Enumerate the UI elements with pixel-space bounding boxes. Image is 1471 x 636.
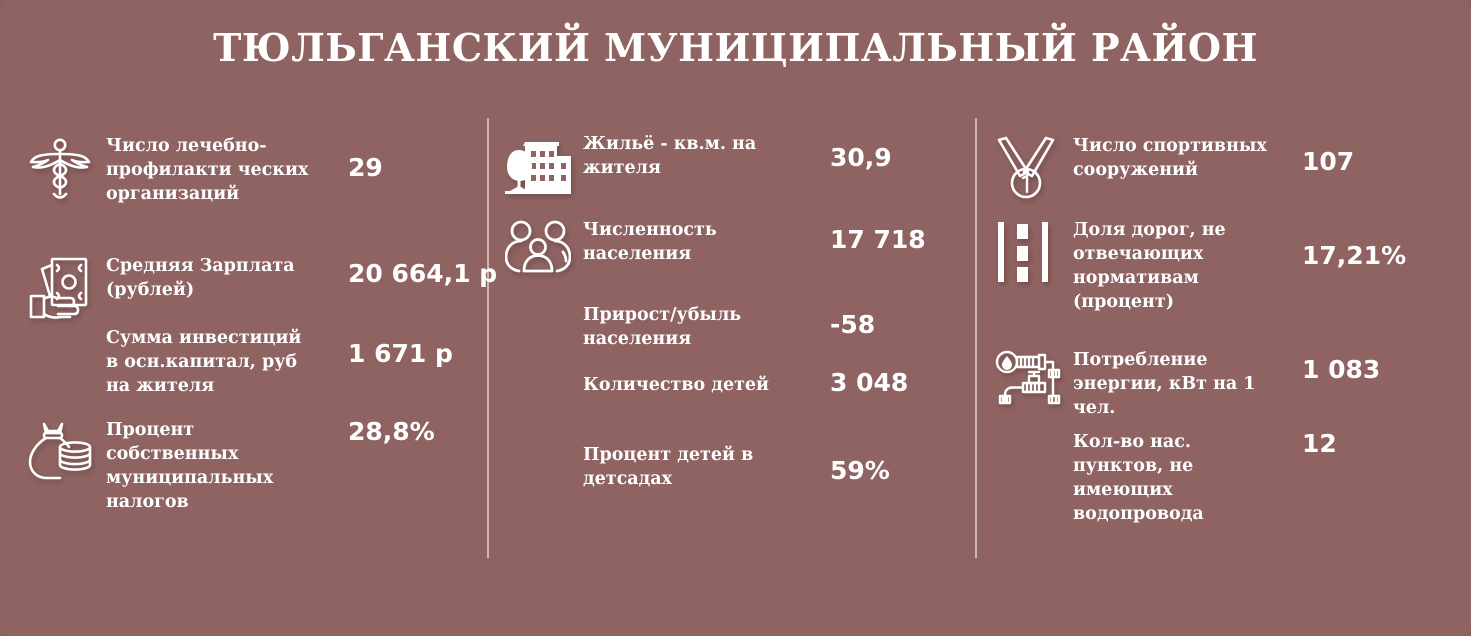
stat-value: 3 048 (830, 369, 908, 397)
column-divider-2 (975, 118, 977, 558)
stat-value: -58 (830, 311, 875, 339)
stat-label: Потребление энергии, кВт на 1 чел. (1073, 348, 1278, 420)
stat-label: Прирост/убыль населения (583, 303, 788, 351)
stat-value: 28,8% (348, 418, 435, 446)
stat-row: Средняя Зарплата (рублей) 20 664,1 р (28, 254, 480, 324)
infographic-poster: ТЮЛЬГАНСКИЙ МУНИЦИПАЛЬНЫЙ РАЙОН Число ле… (0, 0, 1471, 636)
stat-value: 107 (1302, 148, 1354, 176)
stat-value: 20 664,1 р (348, 260, 497, 288)
medal-icon (995, 134, 1073, 204)
column-divider-1 (487, 118, 489, 558)
stat-row: Жильё - кв.м. на жителя 30,9 (505, 132, 955, 202)
stat-row: Число спортивных сооружений 107 (995, 134, 1445, 204)
water-pipes-icon (995, 348, 1073, 418)
money-bag-icon (28, 418, 106, 488)
stat-value: 1 671 р (348, 340, 453, 368)
stat-value: 1 083 (1302, 356, 1380, 384)
stat-label: Жильё - кв.м. на жителя (583, 132, 788, 180)
stat-value: 59% (830, 457, 890, 485)
stat-row: Число лечебно-профилакти ческих организа… (28, 134, 480, 206)
hand-with-money-icon (28, 254, 106, 324)
stat-label: Сумма инвестиций в осн.капитал, руб на ж… (106, 326, 311, 398)
stat-value: 30,9 (830, 144, 892, 172)
caduceus-icon (28, 134, 106, 204)
stat-label: Процент собственных муниципальных налого… (106, 418, 311, 514)
building-with-tree-icon (505, 132, 583, 202)
stat-row: Численность населения 17 718 (505, 218, 955, 288)
stat-row: Количество детей 3 048 (505, 373, 955, 443)
stat-label: Процент детей в детсадах (583, 443, 788, 491)
stat-label: Численность населения (583, 218, 788, 266)
stat-label: Количество детей (583, 373, 788, 397)
page-title: ТЮЛЬГАНСКИЙ МУНИЦИПАЛЬНЫЙ РАЙОН (0, 24, 1471, 72)
stat-value: 29 (348, 154, 383, 182)
stat-value: 12 (1302, 430, 1337, 458)
stat-row: Кол-во нас. пунктов, не имеющих водопров… (995, 430, 1445, 526)
stat-value: 17,21% (1302, 242, 1406, 270)
stat-row: Доля дорог, не отвечающих нормативам (пр… (995, 218, 1445, 314)
stat-label: Кол-во нас. пунктов, не имеющих водопров… (1073, 430, 1278, 526)
road-markings-icon (995, 218, 1073, 288)
stat-label: Доля дорог, не отвечающих нормативам (пр… (1073, 218, 1278, 314)
stat-row: Сумма инвестиций в осн.капитал, руб на ж… (28, 326, 480, 398)
stat-row: Процент собственных муниципальных налого… (28, 418, 480, 514)
stat-label: Средняя Зарплата (рублей) (106, 254, 311, 302)
family-group-icon (505, 218, 583, 288)
stat-row: Потребление энергии, кВт на 1 чел. 1 083 (995, 348, 1445, 420)
stat-label: Число спортивных сооружений (1073, 134, 1278, 182)
stat-value: 17 718 (830, 226, 926, 254)
stat-row: Процент детей в детсадах 59% (505, 443, 955, 513)
stat-label: Число лечебно-профилакти ческих организа… (106, 134, 311, 206)
stat-row: Прирост/убыль населения -58 (505, 303, 955, 373)
